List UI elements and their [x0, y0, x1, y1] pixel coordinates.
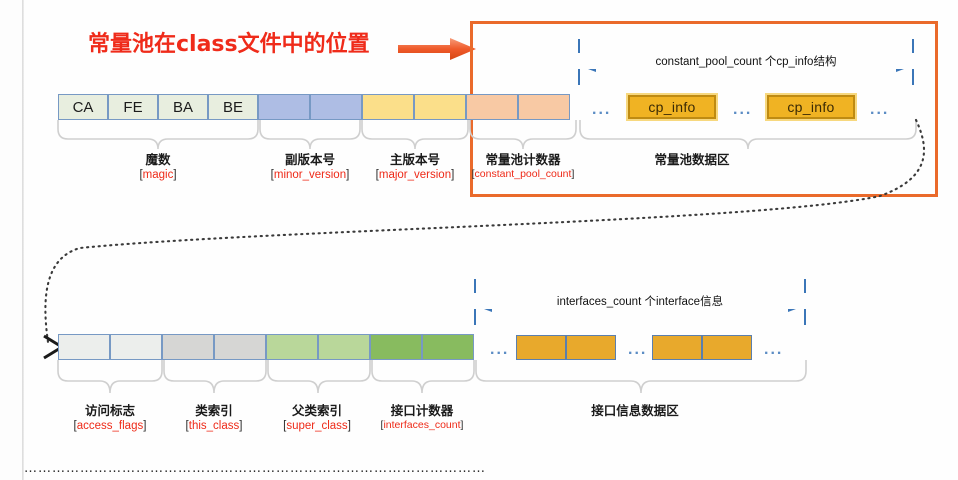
- interface-info-group-2: [652, 335, 752, 360]
- brace-group-bottom: [56, 359, 816, 395]
- interface-cell: [702, 335, 752, 360]
- label-this-class-en: [this_class]: [162, 419, 266, 433]
- class-file-access-strip: [58, 334, 474, 360]
- interfaces-dimension: interfaces_count 个interface信息: [474, 295, 806, 317]
- label-access-flags-en: [access_flags]: [56, 419, 164, 433]
- byte-cell: [422, 334, 474, 360]
- label-interfaces-count: 接口计数器 [interfaces_count]: [366, 403, 478, 432]
- byte-cell: [58, 334, 110, 360]
- byte-cell: [162, 334, 214, 360]
- ellipsis-leading-bottom: ...: [490, 341, 509, 359]
- label-interfaces-count-cn: 接口计数器: [366, 403, 478, 419]
- footer-clipped-text: ………………………………………………………………………………………: [24, 466, 958, 480]
- interface-cell: [516, 335, 566, 360]
- footer-clipped-text-value: ………………………………………………………………………………………: [24, 466, 486, 476]
- label-access-flags: 访问标志 [access_flags]: [56, 403, 164, 433]
- label-access-flags-cn: 访问标志: [56, 403, 164, 419]
- label-this-class-cn: 类索引: [162, 403, 266, 419]
- label-interfaces-data: 接口信息数据区: [530, 403, 740, 419]
- ellipsis-trailing-bottom: ...: [764, 341, 783, 359]
- byte-cell: [110, 334, 162, 360]
- interface-info-group-1: [516, 335, 616, 360]
- label-interfaces-count-en: [interfaces_count]: [366, 419, 478, 432]
- byte-cell: [214, 334, 266, 360]
- label-super-class-en: [super_class]: [264, 419, 370, 433]
- byte-cell: [370, 334, 422, 360]
- label-super-class: 父类索引 [super_class]: [264, 403, 370, 433]
- label-this-class: 类索引 [this_class]: [162, 403, 266, 433]
- interfaces-dimension-label: interfaces_count 个interface信息: [474, 293, 806, 309]
- interface-cell: [652, 335, 702, 360]
- label-super-class-cn: 父类索引: [264, 403, 370, 419]
- interface-cell: [566, 335, 616, 360]
- diagram-canvas: 常量池在class文件中的位置 constant_pool_count 个cp_…: [0, 0, 958, 480]
- byte-cell: [266, 334, 318, 360]
- label-interfaces-data-cn: 接口信息数据区: [530, 403, 740, 419]
- byte-cell: [318, 334, 370, 360]
- ellipsis-middle-bottom: ...: [628, 341, 647, 359]
